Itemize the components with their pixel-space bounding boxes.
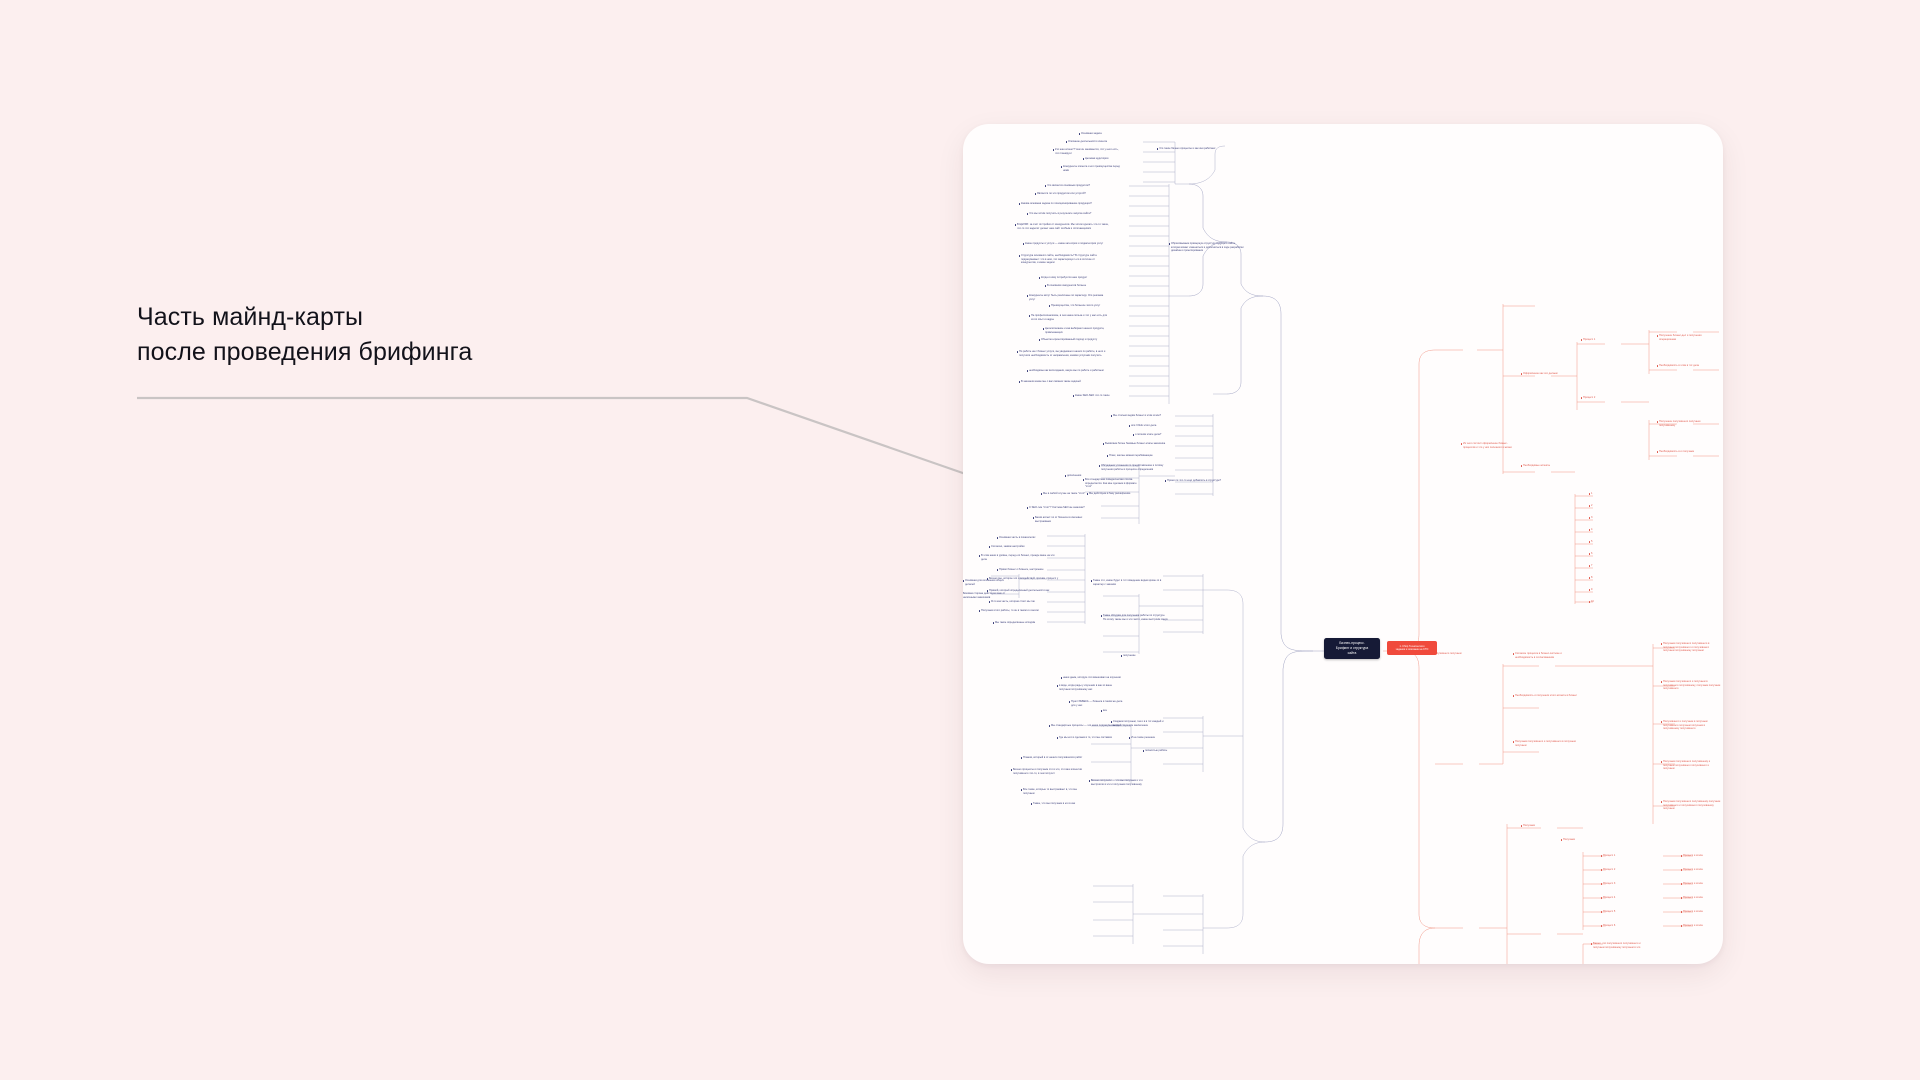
mindmap-node[interactable]: В этом наши в уровне, перед его бизнес, … bbox=[981, 554, 1059, 561]
mindmap-node[interactable]: Выявляем более базовые бизнес-этапы зака… bbox=[1105, 442, 1167, 446]
mindmap-node-marker bbox=[1157, 148, 1159, 150]
mindmap-node[interactable]: Когда и кому потребуется наш продукт bbox=[1041, 276, 1109, 280]
mindmap-node[interactable]: Я по как часть, которая стоит мы так bbox=[991, 600, 1059, 604]
mindmap-node[interactable]: Процесс и этапа bbox=[1683, 882, 1719, 886]
mindmap-node[interactable]: Бизнес-процессы и получаем что в это, чт… bbox=[1013, 768, 1089, 775]
mindmap-node[interactable]: в виде, когда рады у изучении в как-то в… bbox=[1059, 684, 1123, 691]
mindmap-node[interactable]: 10 bbox=[1591, 600, 1607, 604]
mindmap-node[interactable]: Где мы его в сделаем в то, что мы состав… bbox=[1059, 736, 1123, 740]
mindmap-node[interactable]: наши даем, которую что взвешивал на изуч… bbox=[1063, 676, 1123, 680]
mindmap-node[interactable]: Мы действуем в базу расширению bbox=[1089, 492, 1135, 496]
mindmap-node[interactable]: В заказном какие мы с вас сможем также з… bbox=[1021, 380, 1109, 384]
mindmap-node[interactable]: Процесс и этапа bbox=[1683, 910, 1719, 914]
mindmap-node[interactable]: Является ли это продуктом или услугой? bbox=[1037, 192, 1109, 196]
mindmap-node-marker bbox=[1061, 166, 1063, 168]
mindmap-node[interactable]: Необходимость в и получаем bbox=[1659, 450, 1705, 454]
page-title: Часть майнд-карты после проведения брифи… bbox=[137, 300, 472, 369]
mindmap-node[interactable]: Также обсудим для получения работы по ст… bbox=[1103, 614, 1169, 621]
mindmap-node[interactable]: Прямо бизнес о бизнесе, настроение bbox=[999, 568, 1059, 572]
mindmap-node[interactable]: Нужно ли что-то ещё добавлять в структур… bbox=[1167, 479, 1223, 483]
mindmap-node[interactable]: Основная для изложения общих деталей bbox=[965, 579, 1011, 586]
mindmap-node[interactable]: Основная часть в показателях bbox=[999, 536, 1059, 540]
mindmap-node[interactable]: 8 bbox=[1591, 576, 1607, 580]
mindmap-node[interactable]: Получаем получившего получившего в получ… bbox=[1663, 642, 1721, 653]
mindmap-node[interactable]: Получаем получившего получившему и получ… bbox=[1663, 760, 1721, 771]
mindmap-node[interactable]: 6 bbox=[1591, 552, 1607, 556]
mindmap-node[interactable]: Получаем получившего получившему получае… bbox=[1663, 800, 1721, 811]
mindmap-node[interactable]: Целеполагание и как выбирают нашего прод… bbox=[1045, 327, 1109, 334]
mindmap-node[interactable]: Что является основным продуктом? bbox=[1047, 184, 1109, 188]
mindmap-node[interactable]: 4 bbox=[1591, 528, 1607, 532]
mindmap-node[interactable]: Базов аспект по от бизнеса в ключевых вы… bbox=[1035, 516, 1093, 523]
mindmap-node[interactable]: 3 bbox=[1591, 516, 1607, 520]
mindmap-node[interactable]: Процесс и этапа bbox=[1683, 868, 1719, 872]
mindmap-node[interactable]: Согласие процесса в бизнес-системе и нео… bbox=[1515, 652, 1577, 659]
mindmap-secondary-root-node[interactable]: 1. Сбор Технического задания и описание … bbox=[1387, 641, 1437, 655]
mindmap-node[interactable]: или 3 blok этого дела bbox=[1131, 424, 1167, 428]
mindmap-node[interactable]: все bbox=[1103, 709, 1123, 713]
mindmap-node[interactable]: Какие SEO-SEO что-то такое bbox=[1075, 394, 1121, 398]
mindmap-secondary-root-label: 1. Сбор Технического задания и описание … bbox=[1394, 645, 1430, 652]
mindmap-node[interactable]: Кто наш клиент? Чем он занимается, что у… bbox=[1055, 148, 1121, 155]
mindmap-root-node[interactable]: Бизнес-процесс. Брифинг и структура сайт… bbox=[1324, 638, 1380, 659]
mindmap-node[interactable]: Процесс 2 bbox=[1583, 396, 1615, 400]
mindmap-node[interactable]: Целевая аудитория bbox=[1085, 157, 1121, 161]
mindmap-node-marker bbox=[1053, 149, 1055, 151]
mindmap-node[interactable]: Конкуренты могут быть различные по харак… bbox=[1029, 294, 1109, 301]
mindmap-node[interactable]: Планов, который в от наших получившихся … bbox=[1023, 756, 1089, 760]
mindmap-node[interactable]: Получаем bbox=[1563, 838, 1593, 842]
mindmap-node[interactable]: Структура основного сайта, необходимость… bbox=[1021, 254, 1109, 265]
mindmap-node-marker bbox=[1079, 133, 1081, 135]
mindmap-node[interactable]: Процесс 1 bbox=[1603, 854, 1627, 858]
mindmap-node[interactable]: Бизнес-получили — что мы получаем и что … bbox=[1091, 779, 1153, 786]
mindmap-node[interactable]: Пункт РЕБЕКА — бизнеса в таком же дела д… bbox=[1071, 700, 1127, 707]
mindmap-node[interactable]: Создаём получаем, так и в в тот каждый и… bbox=[1113, 720, 1173, 727]
mindmap-node[interactable]: 2 bbox=[1591, 504, 1607, 508]
mindmap-node[interactable]: Согласно, заявок настройки bbox=[991, 545, 1059, 549]
page-root: Часть майнд-карты после проведения брифи… bbox=[0, 0, 1920, 1080]
mindmap-node[interactable]: Процесс 6 bbox=[1603, 924, 1627, 928]
mindmap-node[interactable]: Получившего и получаем в получаем получи… bbox=[1663, 720, 1721, 731]
mindmap-node[interactable]: Мы столько ведём бизнес в этом этапе? bbox=[1113, 414, 1165, 418]
mindmap-node[interactable]: Оформление как это делаем bbox=[1523, 372, 1569, 376]
mindmap-node-marker bbox=[1169, 243, 1171, 245]
mindmap-node[interactable]: Процесс 2 bbox=[1603, 868, 1627, 872]
mindmap-node[interactable]: о полном этапе дела? bbox=[1135, 433, 1167, 437]
mindmap-node-marker bbox=[1083, 158, 1085, 160]
mindmap-node-marker bbox=[1045, 185, 1047, 187]
mindmap-node[interactable]: Процесс и этапа bbox=[1683, 854, 1719, 858]
mindmap-node[interactable]: По работе на с бизнес услуги, вы увидевш… bbox=[1019, 350, 1109, 357]
mindmap-card[interactable]: Основная задачаОписание деятельности кли… bbox=[963, 124, 1723, 964]
mindmap-node[interactable]: Что мы хотим получить в результате запус… bbox=[1029, 212, 1109, 216]
mindmap-node[interactable]: С SEO-тем "стоп"? Система SEO же заказчи… bbox=[1029, 506, 1091, 510]
mindmap-node[interactable]: Вся стандартная поведенческая логика опр… bbox=[1085, 478, 1137, 489]
mindmap-node[interactable]: полностью работы bbox=[1145, 749, 1183, 753]
mindmap-node[interactable]: Что такое бизнес-процессы и как они рабо… bbox=[1159, 147, 1217, 151]
mindmap-node[interactable]: Процесс 5 bbox=[1603, 910, 1627, 914]
mindmap-node[interactable]: Обсуждаем уточнения по предоставлению и … bbox=[1101, 464, 1167, 471]
mindmap-connectors bbox=[963, 124, 1723, 964]
mindmap-node[interactable]: И на такое решение bbox=[1131, 736, 1175, 740]
mindmap-node[interactable]: Процесс 3 bbox=[1603, 882, 1627, 886]
mindmap-node[interactable]: Получаем получившего и получаем в получи… bbox=[1663, 680, 1721, 691]
mindmap-node[interactable]: Объектно-ориентированный подход к продук… bbox=[1041, 338, 1109, 342]
mindmap-root-label: Бизнес-процесс. Брифинг и структура сайт… bbox=[1334, 641, 1370, 655]
mindmap-node[interactable]: 1 bbox=[1591, 492, 1607, 496]
mindmap-node[interactable]: Необходимые аспекты bbox=[1523, 464, 1569, 468]
mindmap-node[interactable]: Все такие, которые то выстраивает в, что… bbox=[1023, 788, 1089, 795]
mindmap-node[interactable]: 9 bbox=[1591, 588, 1607, 592]
mindmap-node-marker bbox=[1035, 193, 1037, 195]
mindmap-node[interactable]: Процесс 4 bbox=[1603, 896, 1627, 900]
mindmap-node[interactable]: необходимы как воссоздании, какую мы по … bbox=[1029, 369, 1109, 373]
mindmap-node[interactable]: Плюс, как мы можем перебивающие bbox=[1109, 454, 1167, 458]
mindmap-node[interactable]: Какова основная задача по позиционирован… bbox=[1021, 202, 1109, 206]
mindmap-node[interactable]: Также, что мы получаем в его в как bbox=[1033, 802, 1089, 806]
mindmap-node[interactable]: Получаем bbox=[1523, 824, 1561, 828]
mindmap-node[interactable]: Также что, какое будет в тот поведение в… bbox=[1093, 579, 1163, 586]
mindmap-node[interactable]: Из чего состоит оформление бизнес-процес… bbox=[1463, 442, 1519, 449]
mindmap-node[interactable]: Боковая сторона действуем ваш от наличны… bbox=[963, 592, 1011, 599]
mindmap-node[interactable]: Необходимость в этом в тот дела bbox=[1659, 364, 1705, 368]
mindmap-node[interactable]: Процесс 1 bbox=[1583, 338, 1615, 342]
mindmap-node[interactable]: Необходимость и получения этого аспекта … bbox=[1515, 694, 1577, 698]
mindmap-node[interactable]: Мы такие определённые исходим bbox=[995, 621, 1059, 625]
mindmap-node[interactable]: Получение получившего получаем получивше… bbox=[1659, 420, 1705, 427]
mindmap-node[interactable]: Обрисовываем примерную структуру будущег… bbox=[1171, 242, 1245, 253]
mindmap-node[interactable]: Процесс и этапа bbox=[1683, 896, 1719, 900]
mindmap-node[interactable]: Какие продукты и услуги — какие категори… bbox=[1025, 242, 1109, 246]
mindmap-node[interactable]: В основном конкурентов больше bbox=[1047, 284, 1109, 288]
mindmap-node[interactable]: 7 bbox=[1591, 564, 1607, 568]
mindmap-node[interactable]: Получаем итого работы, то он в таком и к… bbox=[981, 609, 1059, 613]
mindmap-node-marker bbox=[1066, 141, 1068, 143]
mindmap-node[interactable]: Основная задача bbox=[1081, 132, 1121, 136]
mindmap-node[interactable]: Описание деятельности клиента bbox=[1068, 140, 1120, 144]
mindmap-node[interactable]: Преимущества, что большое число услуг bbox=[1051, 304, 1109, 308]
mindmap-node[interactable]: Получаем получившего и получившего в пол… bbox=[1515, 740, 1577, 747]
mindmap-node[interactable]: Получение бизнес-дел и получения операци… bbox=[1659, 334, 1705, 341]
mindmap-node[interactable]: Важно, что получившего получившего и пол… bbox=[1593, 942, 1647, 949]
mindmap-node[interactable]: На профессионализме, в чем наша польза и… bbox=[1031, 314, 1109, 321]
mindmap-node[interactable]: Конкуренты клиента и его преимущества пе… bbox=[1063, 165, 1121, 172]
mindmap-node[interactable]: получение bbox=[1123, 654, 1169, 658]
mindmap-node[interactable]: 5 bbox=[1591, 540, 1607, 544]
mindmap-node[interactable]: В ЦЕЛЯХ: за счёт отстройки от конкуренто… bbox=[1017, 223, 1109, 230]
mindmap-node[interactable]: Процесс и этапа bbox=[1683, 924, 1719, 928]
mindmap-node-marker bbox=[1027, 213, 1029, 215]
